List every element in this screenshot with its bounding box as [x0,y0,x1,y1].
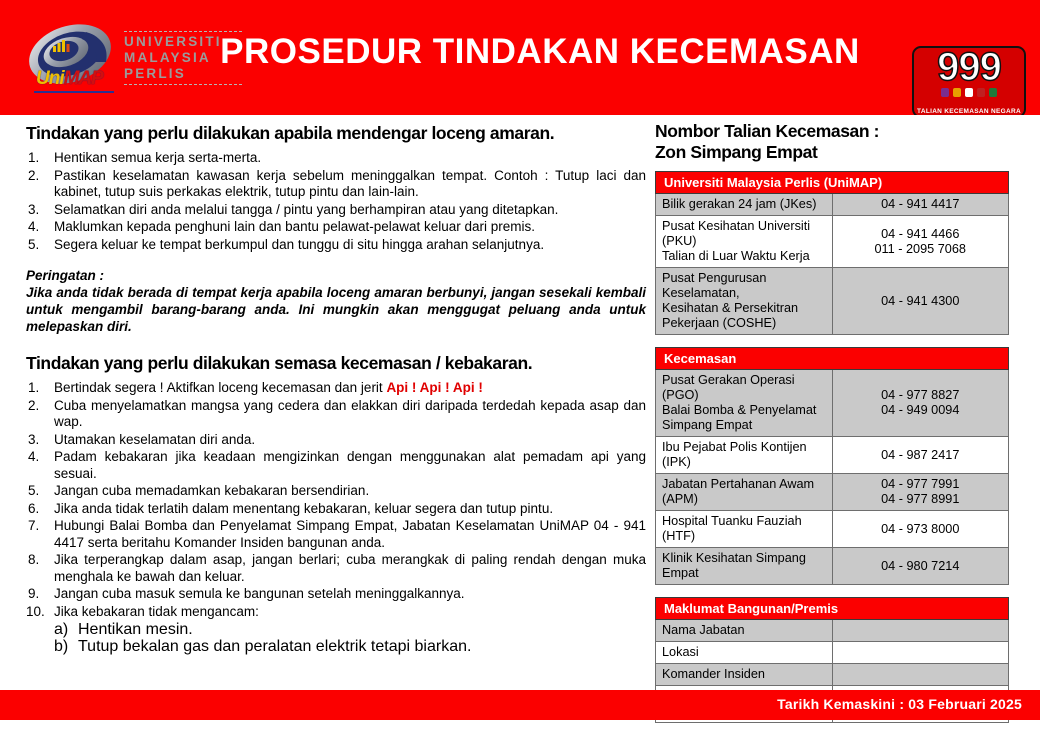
page-footer: Tarikh Kemaskini : 03 Februari 2025 [0,690,1040,720]
list-item: 4.Padam kebakaran jika keadaan mengizink… [26,449,646,482]
list-item-text: Hentikan semua kerja serta-merta. [54,150,261,165]
list-item-text: Jika kebakaran tidak mengancam: [54,604,259,619]
contact-name-cell: Jabatan Pertahanan Awam (APM) [656,474,833,511]
poster-body: Tindakan yang perlu dilakukan apabila me… [0,115,1040,690]
list-item-text: Segera keluar ke tempat berkumpul dan tu… [54,237,544,252]
list-item: 10.Jika kebakaran tidak mengancam: [26,604,646,621]
list-item: 5.Jangan cuba memadamkan kebakaran berse… [26,483,646,500]
contact-name-cell: Nama Jabatan [656,620,833,642]
contact-number-cell: 04 - 941 4466 011 - 2095 7068 [832,216,1009,268]
contact-number-cell [832,664,1009,686]
contacts-heading-line-1: Nombor Talian Kecemasan : [655,121,879,141]
list-item-number: 5. [28,483,50,500]
table-row: Klinik Kesihatan Simpang Empat04 - 980 7… [656,548,1009,585]
list-item: 3.Utamakan keselamatan diri anda. [26,432,646,449]
section-1-heading: Tindakan yang perlu dilakukan apabila me… [26,123,646,144]
contact-number-cell: 04 - 941 4300 [832,268,1009,335]
list-item-text: Hubungi Balai Bomba dan Penyelamat Simpa… [54,518,646,550]
table-row: Pusat Kesihatan Universiti (PKU) Talian … [656,216,1009,268]
table-header-label: Kecemasan [656,348,1009,370]
contact-table: KecemasanPusat Gerakan Operasi (PGO) Bal… [655,347,1009,585]
page-title: PROSEDUR TINDAKAN KECEMASAN [0,32,1040,72]
list-item: 6.Jika anda tidak terlatih dalam menenta… [26,501,646,518]
contact-number-cell: 04 - 973 8000 [832,511,1009,548]
list-item-number: 5. [28,237,50,254]
agency-emblems [914,88,1024,97]
sublist-item-text: Hentikan mesin. [78,621,193,638]
contacts-heading: Nombor Talian Kecemasan : Zon Simpang Em… [655,121,1015,163]
logo-rule-bottom [124,84,242,85]
list-item: 2.Cuba menyelamatkan mangsa yang cedera … [26,398,646,431]
section-2-sublist: a)Hentikan mesin.b)Tutup bekalan gas dan… [26,621,646,655]
table-header-row: Universiti Malaysia Perlis (UniMAP) [656,172,1009,194]
sublist-item: a)Hentikan mesin. [54,621,646,638]
update-stamp: Tarikh Kemaskini : 03 Februari 2025 [777,696,1022,712]
list-item-text: Maklumkan kepada penghuni lain dan bantu… [54,219,535,234]
table-header-label: Maklumat Bangunan/Premis [656,598,1009,620]
list-item-number: 4. [28,219,50,236]
contacts-heading-line-2: Zon Simpang Empat [655,142,817,162]
list-item: 7.Hubungi Balai Bomba dan Penyelamat Sim… [26,518,646,551]
section-2-list: 1.Bertindak segera ! Aktifkan loceng kec… [26,380,646,620]
contact-name-cell: Pusat Gerakan Operasi (PGO) Balai Bomba … [656,370,833,437]
table-row: Komander Insiden [656,664,1009,686]
contact-name-cell: Ibu Pejabat Polis Kontijen (IPK) [656,437,833,474]
list-item-text: Utamakan keselamatan diri anda. [54,432,255,447]
list-item: 3.Selamatkan diri anda melalui tangga / … [26,202,646,219]
contact-name-cell: Bilik gerakan 24 jam (JKes) [656,194,833,216]
list-item: 1.Hentikan semua kerja serta-merta. [26,150,646,167]
list-item-number: 10. [26,604,48,621]
list-item-text: Cuba menyelamatkan mangsa yang cedera da… [54,398,646,430]
list-item-number: 3. [28,202,50,219]
section-2-heading: Tindakan yang perlu dilakukan semasa kec… [26,353,646,374]
list-item-text: Padam kebakaran jika keadaan mengizinkan… [54,449,646,481]
table-row: Nama Jabatan [656,620,1009,642]
contact-number-cell: 04 - 941 4417 [832,194,1009,216]
table-row: Hospital Tuanku Fauziah (HTF)04 - 973 80… [656,511,1009,548]
list-item-text: Jika terperangkap dalam asap, jangan ber… [54,552,646,584]
agency-emblem-crescent-icon [965,88,973,97]
list-item: 5.Segera keluar ke tempat berkumpul dan … [26,237,646,254]
emergency-caption: TALIAN KECEMASAN NEGARA [914,108,1024,115]
agency-emblem-civil-defence-icon [977,88,985,97]
contact-name-cell: Pusat Pengurusan Keselamatan, Kesihatan … [656,268,833,335]
list-item-number: 8. [28,552,50,569]
agency-emblem-maritime-icon [989,88,997,97]
wordmark-underline [34,91,114,93]
list-item-text: Pastikan keselamatan kawasan kerja sebel… [54,168,646,200]
contact-name-cell: Klinik Kesihatan Simpang Empat [656,548,833,585]
emergency-999-logo: 999 TALIAN KECEMASAN NEGARA [912,46,1026,115]
contact-name-cell: Hospital Tuanku Fauziah (HTF) [656,511,833,548]
section-1-list: 1.Hentikan semua kerja serta-merta.2.Pas… [26,150,646,253]
list-item-number: 6. [28,501,50,518]
list-item: 4.Maklumkan kepada penghuni lain dan ban… [26,219,646,236]
emphasis-text: Api ! Api ! Api ! [386,380,482,395]
table-row: Lokasi [656,642,1009,664]
contact-name-cell: Pusat Kesihatan Universiti (PKU) Talian … [656,216,833,268]
list-item-text: Jangan cuba memadamkan kebakaran bersend… [54,483,369,498]
contact-name-cell: Komander Insiden [656,664,833,686]
emergency-number: 999 [914,46,1024,89]
peringatan-label: Peringatan : [26,267,646,284]
list-item-number: 2. [28,168,50,185]
list-item-number: 1. [28,380,50,397]
peringatan-block: Peringatan : Jika anda tidak berada di t… [26,267,646,335]
contact-number-cell: 04 - 987 2417 [832,437,1009,474]
list-item: 2.Pastikan keselamatan kawasan kerja seb… [26,168,646,201]
contact-number-cell: 04 - 980 7214 [832,548,1009,585]
contact-name-cell: Lokasi [656,642,833,664]
list-item-number: 2. [28,398,50,415]
contact-number-cell: 04 - 977 7991 04 - 977 8991 [832,474,1009,511]
page-header: UniMAP UNIVERSITI MALAYSIA PERLIS PROSED… [0,0,1040,115]
list-item-text: Selamatkan diri anda melalui tangga / pi… [54,202,558,217]
list-item-number: 1. [28,150,50,167]
table-row: Pusat Gerakan Operasi (PGO) Balai Bomba … [656,370,1009,437]
list-item-number: 9. [28,586,50,603]
list-item-number: 7. [28,518,50,535]
table-header-row: Kecemasan [656,348,1009,370]
peringatan-text: Jika anda tidak berada di tempat kerja a… [26,284,646,335]
contact-table: Universiti Malaysia Perlis (UniMAP)Bilik… [655,171,1009,335]
list-item-number: 4. [28,449,50,466]
sublist-item: b)Tutup bekalan gas dan peralatan elektr… [54,638,646,655]
sublist-item-text: Tutup bekalan gas dan peralatan elektrik… [78,638,471,655]
agency-emblem-police-icon [941,88,949,97]
contact-number-cell [832,620,1009,642]
procedures-column: Tindakan yang perlu dilakukan apabila me… [26,115,646,655]
sublist-item-number: b) [54,638,68,655]
list-item: 1.Bertindak segera ! Aktifkan loceng kec… [26,380,646,397]
contacts-column: Nombor Talian Kecemasan : Zon Simpang Em… [655,115,1015,735]
list-item-text: Jangan cuba masuk semula ke bangunan set… [54,586,465,601]
agency-emblem-fire-icon [953,88,961,97]
contact-tables: Universiti Malaysia Perlis (UniMAP)Bilik… [655,171,1015,723]
sublist-item-number: a) [54,621,68,638]
contact-number-cell [832,642,1009,664]
list-item-text: Bertindak segera ! Aktifkan loceng kecem… [54,380,386,395]
table-header-row: Maklumat Bangunan/Premis [656,598,1009,620]
list-item-text: Jika anda tidak terlatih dalam menentang… [54,501,553,516]
table-row: Jabatan Pertahanan Awam (APM)04 - 977 79… [656,474,1009,511]
table-row: Pusat Pengurusan Keselamatan, Kesihatan … [656,268,1009,335]
contact-number-cell: 04 - 977 8827 04 - 949 0094 [832,370,1009,437]
table-row: Bilik gerakan 24 jam (JKes)04 - 941 4417 [656,194,1009,216]
list-item: 9.Jangan cuba masuk semula ke bangunan s… [26,586,646,603]
table-header-label: Universiti Malaysia Perlis (UniMAP) [656,172,1009,194]
list-item: 8.Jika terperangkap dalam asap, jangan b… [26,552,646,585]
table-row: Ibu Pejabat Polis Kontijen (IPK)04 - 987… [656,437,1009,474]
list-item-number: 3. [28,432,50,449]
